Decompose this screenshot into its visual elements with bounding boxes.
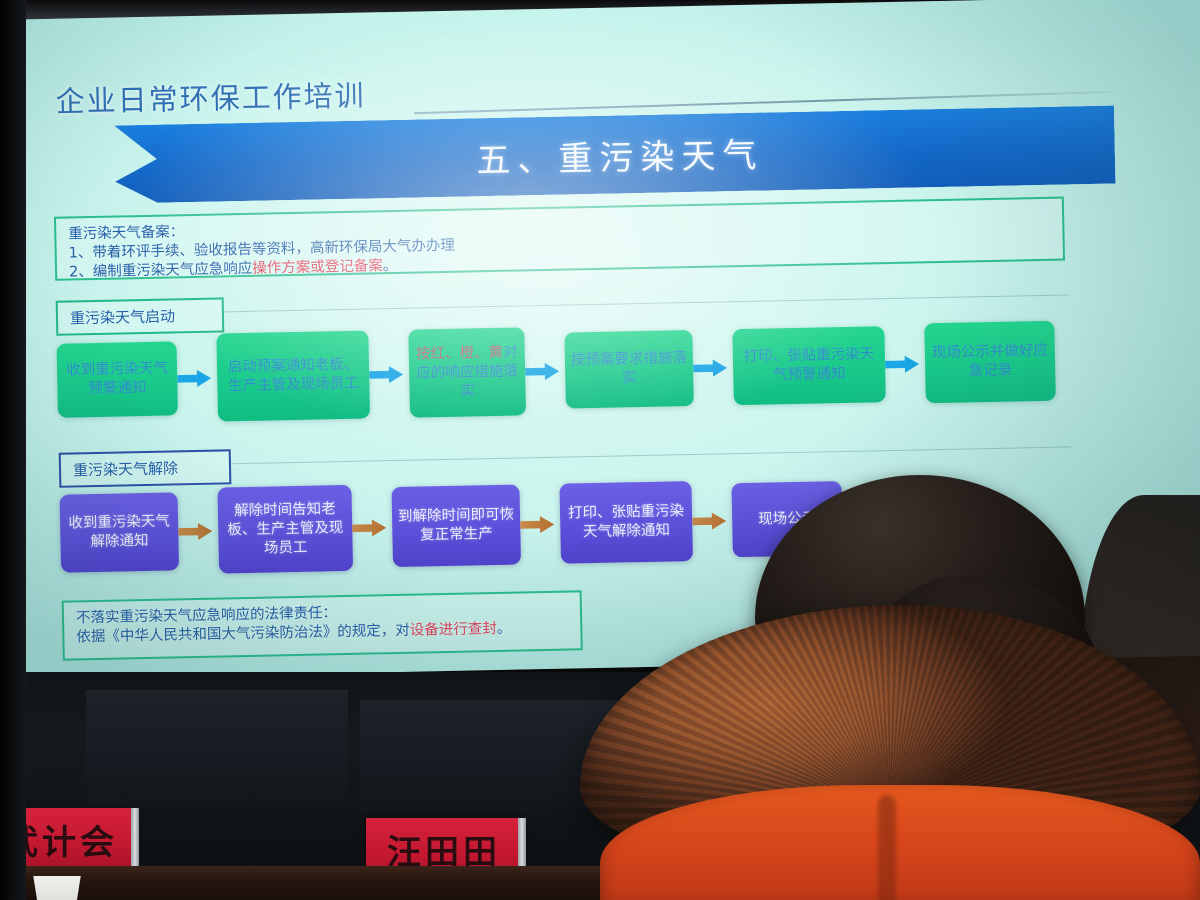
jacket-seam <box>878 795 896 900</box>
flow-node-release-1: 收到重污染天气解除通知 <box>60 492 180 572</box>
section-rule-start <box>224 294 1069 312</box>
filing-note-highlight: 操作方案或登记备案 <box>252 258 383 277</box>
flow-node-start-2-label: 启动预案通知老板、生产主管及现场员工 <box>223 356 364 397</box>
paper-cup <box>30 876 84 900</box>
flow-node-release-2: 解除时间告知老板、生产主管及现场员工 <box>217 485 353 574</box>
flow-node-release-3-label: 到解除时间即可恢复正常生产 <box>398 506 515 546</box>
seat-back <box>86 690 348 808</box>
banner-heading: 五、重污染天气 <box>114 105 1115 203</box>
flow-node-start-4: 按预案要求措施落实 <box>564 330 693 409</box>
section-banner: 五、重污染天气 <box>114 105 1115 203</box>
photo-canvas: 企业日常环保工作培训 五、重污染天气 重污染天气备案： 1、带着环评手续、验收报… <box>0 0 1200 900</box>
flow-node-release-2-label: 解除时间告知老板、生产主管及现场员工 <box>224 499 347 558</box>
flow-node-release-3: 到解除时间即可恢复正常生产 <box>391 485 521 568</box>
liability-note-line-2-suffix: 。 <box>497 621 512 637</box>
arrow-right-icon <box>525 358 566 385</box>
flow-node-release-1-label: 收到重污染天气解除通知 <box>66 512 173 552</box>
filing-note-line-2-suffix: 。 <box>383 258 398 274</box>
person-foreground <box>560 455 1200 900</box>
flow-node-start-2: 启动预案通知老板、生产主管及现场员工 <box>216 331 370 422</box>
arrow-right-icon <box>177 365 218 392</box>
flow-node-start-5: 打印、张贴重污染天气预警通知 <box>732 326 885 405</box>
flow-node-start-3-highlight: 按红、橙、黄 <box>416 344 503 362</box>
desk <box>0 866 620 900</box>
arrow-right-icon <box>369 361 410 388</box>
flow-node-start-6: 现场公示并做好应急记录 <box>924 321 1056 404</box>
flow-node-start-4-label: 按预案要求措施落实 <box>571 349 688 389</box>
flow-node-start-1: 收到重污染天气预警通知 <box>57 341 178 417</box>
flow-node-start-5-label: 打印、张贴重污染天气预警通知 <box>739 345 880 386</box>
flow-node-start-3-label: 按红、橙、黄对应的响应措施落实 <box>415 343 520 402</box>
arrow-right-icon <box>178 518 219 545</box>
liability-note-box: 不落实重污染天气应急响应的法律责任： 依据《中华人民共和国大气污染防治法》的规定… <box>62 590 583 660</box>
section-label-release: 重污染天气解除 <box>59 449 232 487</box>
filing-note-line-2-prefix: 2、编制重污染天气应急响应 <box>69 261 253 281</box>
room-wall-left <box>0 0 26 900</box>
flow-node-start-3: 按红、橙、黄对应的响应措施落实 <box>408 327 526 417</box>
flow-node-start-6-label: 现场公示并做好应急记录 <box>931 342 1050 382</box>
arrow-right-icon <box>693 354 734 381</box>
section-label-start: 重污染天气启动 <box>56 297 225 335</box>
page-title: 企业日常环保工作培训 <box>55 73 366 121</box>
flow-node-start-1-label: 收到重污染天气预警通知 <box>63 359 172 399</box>
arrow-right-icon <box>885 350 926 377</box>
arrow-right-icon <box>520 511 561 538</box>
name-plate-frame <box>131 808 139 870</box>
filing-note-box: 重污染天气备案： 1、带着环评手续、验收报告等资料，高新环保局大气办办理 2、编… <box>54 197 1065 281</box>
arrow-right-icon <box>352 514 393 541</box>
liability-note-highlight: 设备进行查封 <box>410 621 497 639</box>
